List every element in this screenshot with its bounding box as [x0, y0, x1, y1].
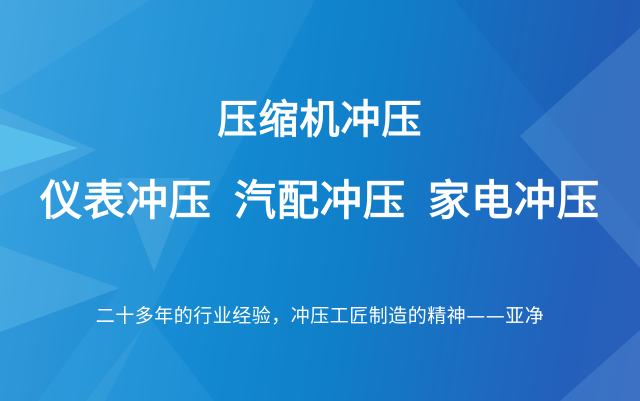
- title-line-2-part-2: 汽配冲压: [234, 176, 406, 225]
- subtitle-tagline: 二十多年的行业经验，冲压工匠制造的精神——亚净: [0, 303, 640, 329]
- promo-banner: 压缩机冲压 仪表冲压汽配冲压家电冲压 二十多年的行业经验，冲压工匠制造的精神——…: [0, 0, 640, 401]
- title-line-2: 仪表冲压汽配冲压家电冲压: [0, 178, 640, 224]
- title-line-1: 压缩机冲压: [0, 98, 640, 142]
- title-line-2-part-3: 家电冲压: [428, 176, 600, 225]
- title-line-2-part-1: 仪表冲压: [40, 176, 212, 225]
